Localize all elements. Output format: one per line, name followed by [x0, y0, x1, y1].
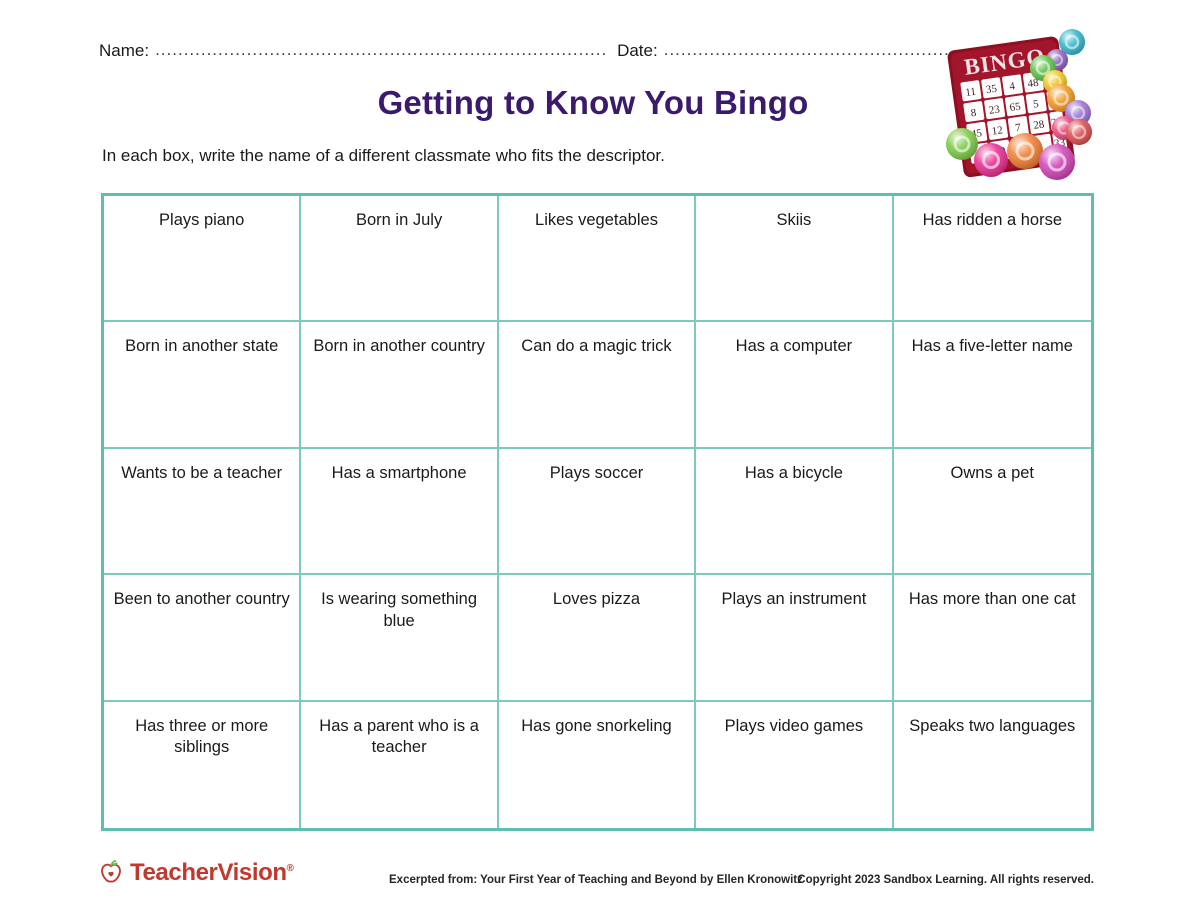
footer-copyright: Copyright 2023 Sandbox Learning. All rig…: [797, 874, 1094, 886]
svg-text:12: 12: [991, 124, 1004, 137]
bingo-cell[interactable]: Has a bicycle: [696, 449, 893, 575]
svg-text:11: 11: [965, 86, 977, 99]
name-write-line[interactable]: ........................................…: [155, 40, 607, 60]
apple-icon: [97, 858, 125, 888]
svg-text:28: 28: [1033, 118, 1046, 131]
bingo-cell[interactable]: Has three or more siblings: [104, 702, 301, 828]
name-label: Name:: [99, 41, 149, 61]
bingo-cell[interactable]: Speaks two languages: [894, 702, 1091, 828]
bingo-cell[interactable]: Has ridden a horse: [894, 196, 1091, 322]
bingo-cell[interactable]: Wants to be a teacher: [104, 449, 301, 575]
bingo-cell[interactable]: Born in another state: [104, 322, 301, 448]
bingo-cell[interactable]: Has more than one cat: [894, 575, 1091, 701]
date-write-line[interactable]: ........................................…: [664, 40, 964, 60]
svg-text:65: 65: [1009, 100, 1022, 113]
date-label: Date:: [617, 41, 658, 61]
footer-credit: Excerpted from: Your First Year of Teach…: [389, 874, 803, 886]
bingo-cell[interactable]: Plays piano: [104, 196, 301, 322]
bingo-cell[interactable]: Has a computer: [696, 322, 893, 448]
bingo-cell[interactable]: Is wearing something blue: [301, 575, 498, 701]
bingo-cell[interactable]: Has gone snorkeling: [499, 702, 696, 828]
bingo-grid: Plays pianoBorn in JulyLikes vegetablesS…: [101, 193, 1094, 831]
instruction-text: In each box, write the name of a differe…: [102, 146, 665, 166]
bingo-card-icon: BINGO 1135448: [933, 18, 1101, 186]
bingo-cell[interactable]: Skiis: [696, 196, 893, 322]
name-date-row: Name: ..................................…: [99, 41, 929, 61]
bingo-cell[interactable]: Plays video games: [696, 702, 893, 828]
bingo-cell[interactable]: Likes vegetables: [499, 196, 696, 322]
svg-text:23: 23: [988, 103, 1001, 116]
bingo-cell[interactable]: Plays an instrument: [696, 575, 893, 701]
page-title-text: Getting to Know You Bingo: [378, 84, 809, 122]
bingo-cell[interactable]: Has a parent who is a teacher: [301, 702, 498, 828]
bingo-cell[interactable]: Loves pizza: [499, 575, 696, 701]
bingo-cell[interactable]: Born in July: [301, 196, 498, 322]
bingo-cell[interactable]: Can do a magic trick: [499, 322, 696, 448]
bingo-cell[interactable]: Been to another country: [104, 575, 301, 701]
bingo-cell[interactable]: Born in another country: [301, 322, 498, 448]
bingo-cell[interactable]: Has a five-letter name: [894, 322, 1091, 448]
registered-mark: ®: [287, 863, 294, 874]
worksheet-page: Name: ..................................…: [0, 0, 1190, 912]
bingo-cell[interactable]: Has a smartphone: [301, 449, 498, 575]
bingo-cell[interactable]: Owns a pet: [894, 449, 1091, 575]
teachervision-wordmark: TeacherVision®: [130, 861, 294, 885]
teachervision-logo: TeacherVision®: [97, 858, 294, 888]
svg-text:35: 35: [985, 83, 998, 96]
bingo-cell[interactable]: Plays soccer: [499, 449, 696, 575]
